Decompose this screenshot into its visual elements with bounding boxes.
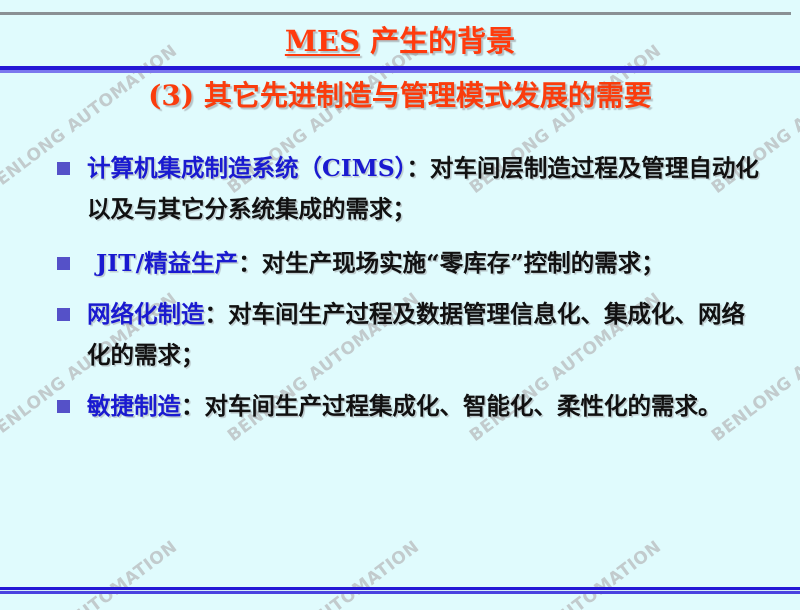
- list-item: 敏捷制造：对车间生产过程集成化、智能化、柔性化的需求。: [0, 386, 800, 427]
- list-item: JIT/精益生产：对生产现场实施“零库存”控制的需求；: [0, 243, 800, 284]
- page-title-latin: MES: [285, 24, 360, 58]
- list-spacer: [0, 284, 800, 294]
- page-subtitle: (3) 其它先进制造与管理模式发展的需要: [0, 79, 800, 112]
- list-item-text: 敏捷制造：对车间生产过程集成化、智能化、柔性化的需求。: [87, 386, 766, 427]
- list-spacer: [0, 230, 800, 243]
- list-item-highlight: 网络化制造: [87, 300, 205, 328]
- watermark-text: BENLONG AUTOMATION: [466, 537, 665, 610]
- list-item-highlight: 敏捷制造: [87, 392, 181, 420]
- list-item-text: JIT/精益生产：对生产现场实施“零库存”控制的需求；: [87, 243, 766, 284]
- list-item-highlight: JIT/精益生产: [96, 249, 238, 277]
- bullet-list: 计算机集成制造系统（CIMS）：对车间层制造过程及管理自动化以及与其它分系统集成…: [0, 148, 800, 427]
- page-title-chinese: 产生的背景: [360, 24, 515, 58]
- presentation-slide: BENLONG AUTOMATION BENLONG AUTOMATION BE…: [0, 0, 800, 610]
- title-divider: [0, 66, 800, 74]
- list-item: 网络化制造：对车间生产过程及数据管理信息化、集成化、网络化的需求；: [0, 294, 800, 376]
- list-item-highlight: 计算机集成制造系统（CIMS）: [87, 154, 406, 182]
- square-bullet-icon: [57, 257, 70, 270]
- list-item-text: 计算机集成制造系统（CIMS）：对车间层制造过程及管理自动化以及与其它分系统集成…: [87, 148, 766, 230]
- list-item-body: ：对车间生产过程集成化、智能化、柔性化的需求。: [181, 392, 722, 420]
- square-bullet-icon: [57, 308, 70, 321]
- page-title: MES 产生的背景: [0, 24, 800, 58]
- top-divider: [0, 12, 791, 15]
- list-item-body: ：对生产现场实施“零库存”控制的需求；: [238, 249, 665, 277]
- watermark-text: BENLONG AUTOMATION: [708, 537, 800, 610]
- watermark-text: BENLONG AUTOMATION: [224, 537, 423, 610]
- square-bullet-icon: [57, 400, 70, 413]
- list-spacer: [0, 376, 800, 386]
- bottom-divider-light: [0, 591, 800, 594]
- bottom-divider: [0, 587, 800, 595]
- list-item: 计算机集成制造系统（CIMS）：对车间层制造过程及管理自动化以及与其它分系统集成…: [0, 148, 800, 230]
- square-bullet-icon: [57, 162, 70, 175]
- watermark-text: BENLONG AUTOMATION: [0, 537, 181, 610]
- title-divider-light: [0, 70, 800, 73]
- list-item-text: 网络化制造：对车间生产过程及数据管理信息化、集成化、网络化的需求；: [87, 294, 766, 376]
